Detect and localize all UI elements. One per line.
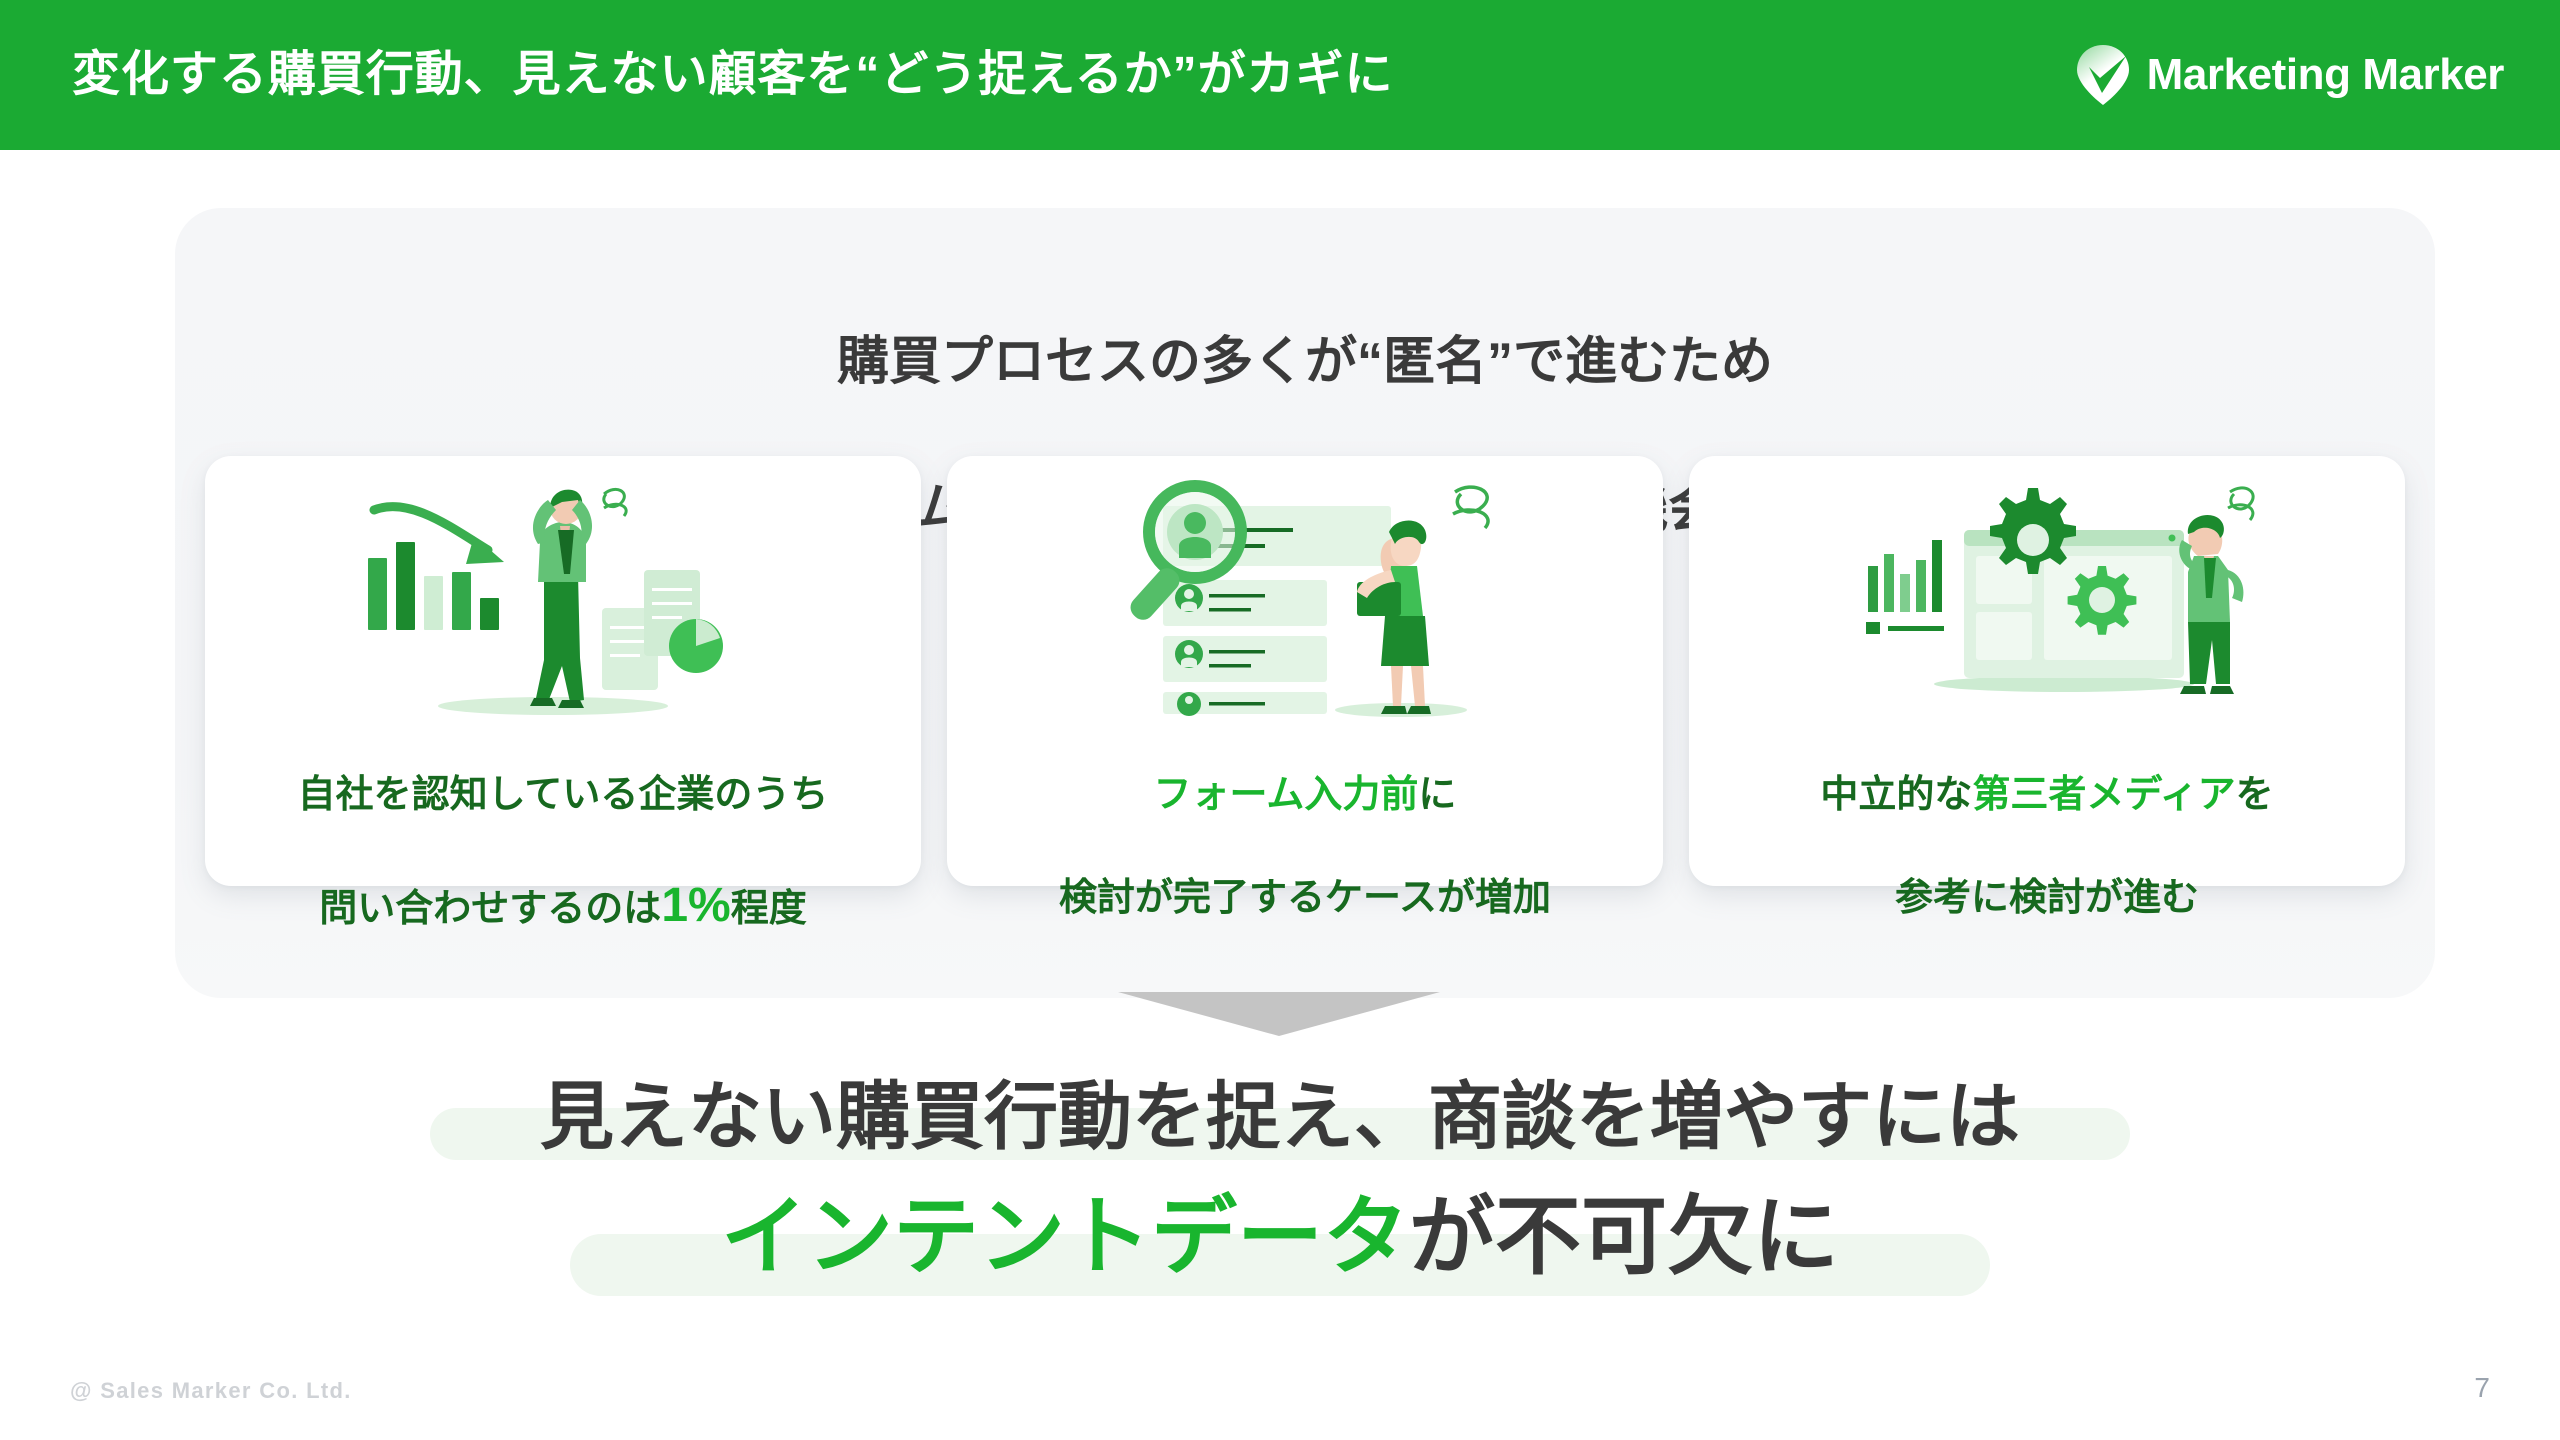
card-text: 自社を認知している企業のうち 問い合わせするのは1%程度: [280, 718, 847, 990]
page-number: 7: [2474, 1372, 2490, 1404]
conclusion-line-2-rest: が不可欠に: [1409, 1189, 1839, 1285]
down-arrow-icon: [1118, 992, 1440, 1036]
card-text-line-1: 自社を認知している企業のうち: [298, 770, 829, 822]
gears-browser-window-thinking-man-illustration: [1689, 470, 2405, 718]
magnifier-contact-list-woman-illustration: [947, 470, 1663, 718]
card-stat-highlight: 1%: [661, 879, 730, 932]
brand-name: Marketing Marker: [2147, 53, 2504, 97]
card-pre-form-evaluation[interactable]: フォーム入力前に 検討が完了するケースが増加: [947, 456, 1663, 886]
card-text-highlight: 第三者メディア: [1972, 774, 2235, 816]
card-text-line-1-suffix: に: [1418, 774, 1456, 816]
card-third-party-media[interactable]: 中立的な第三者メディアを 参考に検討が進む: [1689, 456, 2405, 886]
card-text-line-2-prefix: 問い合わせするのは: [319, 888, 661, 930]
card-text: フォーム入力前に 検討が完了するケースが増加: [1041, 718, 1569, 976]
main-panel: 購買プロセスの多くが“匿名”で進むため “フォーム入力”頼みの待ちの姿勢では機会…: [175, 208, 2435, 998]
card-text-line-1: フォーム入力前に: [1059, 770, 1551, 822]
card-awareness-inquiry-rate[interactable]: 自社を認知している企業のうち 問い合わせするのは1%程度: [205, 456, 921, 886]
page-title: 変化する購買行動、見えない顧客を“どう捉えるか”がカギに: [72, 51, 1393, 99]
panel-heading-line-1: 購買プロセスの多くが“匿名”で進むため: [175, 326, 2435, 400]
conclusion-block: 見えない購買行動を捉え、商談を増やすには インテントデータが不可欠に: [0, 1080, 2560, 1280]
card-text: 中立的な第三者メディアを 参考に検討が進む: [1802, 718, 2291, 976]
card-text-line-2-suffix: 程度: [731, 888, 807, 930]
conclusion-line-2: インテントデータが不可欠に: [0, 1194, 2560, 1280]
conclusion-line-2-text: インテントデータが不可欠に: [721, 1189, 1839, 1285]
brand-logo: Marketing Marker: [2073, 43, 2504, 107]
card-text-line-2: 検討が完了するケースが増加: [1059, 873, 1551, 925]
card-text-line-1-suffix: を: [2236, 774, 2274, 816]
stressed-businessman-declining-chart-illustration: [205, 470, 921, 718]
card-text-line-2: 参考に検討が進む: [1820, 873, 2273, 925]
conclusion-line-1: 見えない購買行動を捉え、商談を増やすには: [0, 1080, 2560, 1154]
slide: 変化する購買行動、見えない顧客を“どう捉えるか”がカギに Marketing M…: [0, 0, 2560, 1440]
card-list: 自社を認知している企業のうち 問い合わせするのは1%程度: [205, 456, 2405, 886]
copyright-text: @ Sales Marker Co. Ltd.: [70, 1378, 352, 1404]
card-text-line-2: 問い合わせするのは1%程度: [298, 873, 829, 938]
conclusion-keyword: インテントデータ: [721, 1189, 1409, 1285]
slide-header: 変化する購買行動、見えない顧客を“どう捉えるか”がカギに Marketing M…: [0, 0, 2560, 150]
card-text-highlight: フォーム入力前: [1154, 774, 1419, 816]
card-text-line-1-prefix: 中立的な: [1820, 774, 1972, 816]
conclusion-line-1-text: 見えない購買行動を捉え、商談を増やすには: [540, 1075, 2020, 1158]
card-text-line-1: 中立的な第三者メディアを: [1820, 770, 2273, 822]
map-pin-check-icon: [2073, 43, 2133, 107]
